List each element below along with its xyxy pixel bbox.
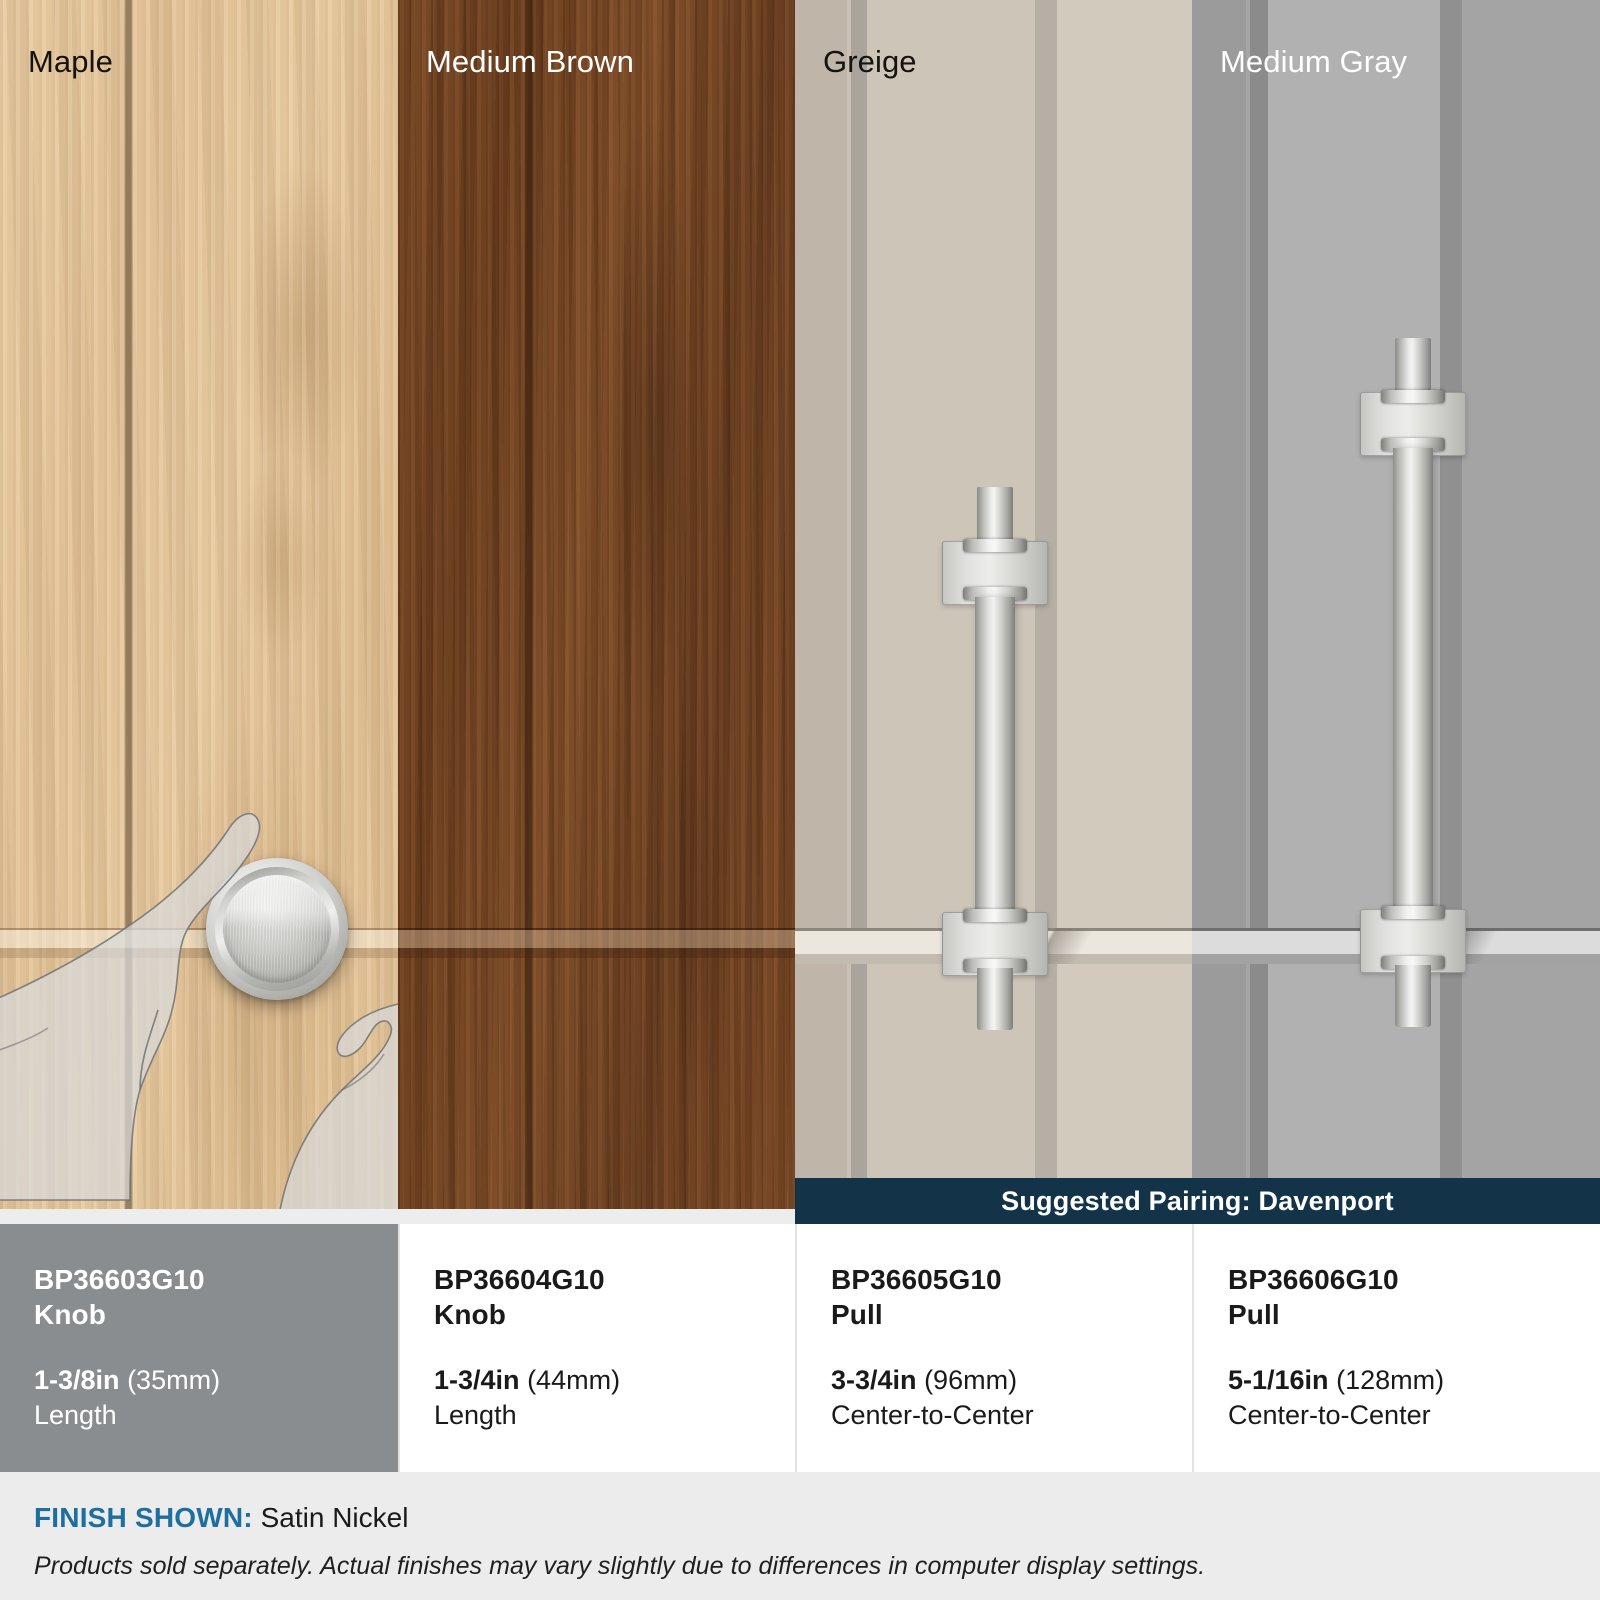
product-sku: BP36606G10 [1228,1262,1600,1297]
pull-bar [975,597,1015,919]
dimension-imperial: 1-3/4in [434,1365,520,1395]
knob-highlight [223,875,331,983]
product-info-cell-4: BP36606G10 Pull 5-1/16in (128mm) Center-… [1192,1224,1600,1472]
suggested-pairing-banner: Suggested Pairing: Davenport [795,1178,1600,1224]
dimension-metric: (35mm) [127,1365,220,1395]
pull-collar-top-upper [1381,390,1445,403]
dimension-metric: (96mm) [924,1365,1017,1395]
pull-bar [1393,448,1433,916]
product-sku: BP36605G10 [831,1262,1192,1297]
product-dimension: 1-3/4in (44mm) [434,1363,795,1398]
dimension-description: Length [434,1398,795,1433]
footer: FINISH SHOWN: Satin Nickel Products sold… [0,1472,1600,1600]
product-info-cell-2: BP36604G10 Knob 1-3/4in (44mm) Length [398,1224,795,1472]
dimension-imperial: 3-3/4in [831,1365,917,1395]
pull-collar-bottom-upper [1381,906,1445,919]
pull-collar-bottom-upper [963,909,1027,922]
product-info-cell-3: BP36605G10 Pull 3-3/4in (96mm) Center-to… [795,1224,1192,1472]
dimension-description: Center-to-Center [831,1398,1192,1433]
product-type: Knob [434,1297,795,1332]
disclaimer-text: Products sold separately. Actual finishe… [34,1552,1205,1581]
finish-label-greige: Greige [823,44,917,80]
pull-bp36606g10 [1214,338,1600,1030]
finish-label-maple: Maple [28,44,113,80]
product-dimension: 3-3/4in (96mm) [831,1363,1192,1398]
finish-panel-greige: Greige [795,0,1192,1209]
hand-scale-silhouette-icon [0,760,398,1209]
finish-photo-band: Maple Medium Brown [0,0,1600,1209]
knob-bp36603g10 [206,858,348,1000]
dimension-description: Center-to-Center [1228,1398,1600,1433]
finish-panel-medium-gray: Medium Gray [1192,0,1600,1209]
finish-panel-maple: Maple [0,0,398,1209]
dimension-imperial: 1-3/8in [34,1365,120,1395]
product-type: Pull [831,1297,1192,1332]
product-sku: BP36604G10 [434,1262,795,1297]
dimension-metric: (44mm) [527,1365,620,1395]
finish-shown-key: FINISH SHOWN: [34,1502,253,1533]
dimension-metric: (128mm) [1336,1365,1444,1395]
product-type: Pull [1228,1297,1600,1332]
product-type: Knob [34,1297,398,1332]
product-dimension: 5-1/16in (128mm) [1228,1363,1600,1398]
pull-end-cap-bottom [977,968,1013,1030]
product-sku: BP36603G10 [34,1262,398,1297]
product-comparison-sheet: Maple Medium Brown [0,0,1600,1600]
finish-panel-medium-brown: Medium Brown [398,0,795,1209]
dimension-description: Length [34,1398,398,1433]
product-dimension: 1-3/8in (35mm) [34,1363,398,1398]
product-info-cell-1: BP36603G10 Knob 1-3/8in (35mm) Length [0,1224,398,1472]
finish-label-medium-gray: Medium Gray [1220,44,1407,80]
cabinet-reveal-medium-brown [398,928,795,958]
pull-collar-top-upper [963,539,1027,552]
finish-label-medium-brown: Medium Brown [426,44,634,80]
pull-bp36605g10 [796,487,1192,1032]
product-info-row: BP36603G10 Knob 1-3/8in (35mm) Length BP… [0,1224,1600,1472]
pull-end-cap-bottom [1395,965,1431,1027]
finish-shown-value: Satin Nickel [261,1502,409,1533]
dimension-imperial: 5-1/16in [1228,1365,1329,1395]
finish-shown-line: FINISH SHOWN: Satin Nickel [34,1502,408,1534]
